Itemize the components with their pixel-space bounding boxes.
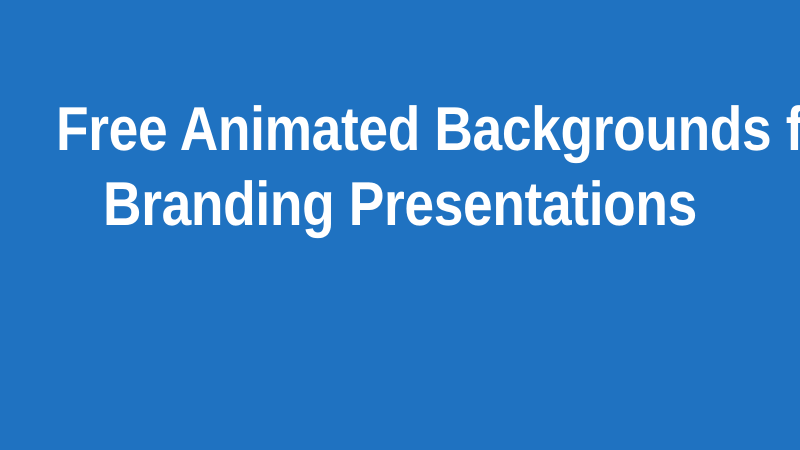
page-title-line-2: Branding Presentations [56, 167, 744, 242]
title-slide: Free Animated Backgrounds for Branding P… [0, 0, 800, 450]
page-title: Free Animated Backgrounds for Branding P… [0, 92, 800, 242]
page-title-line-1: Free Animated Backgrounds for [56, 92, 744, 167]
